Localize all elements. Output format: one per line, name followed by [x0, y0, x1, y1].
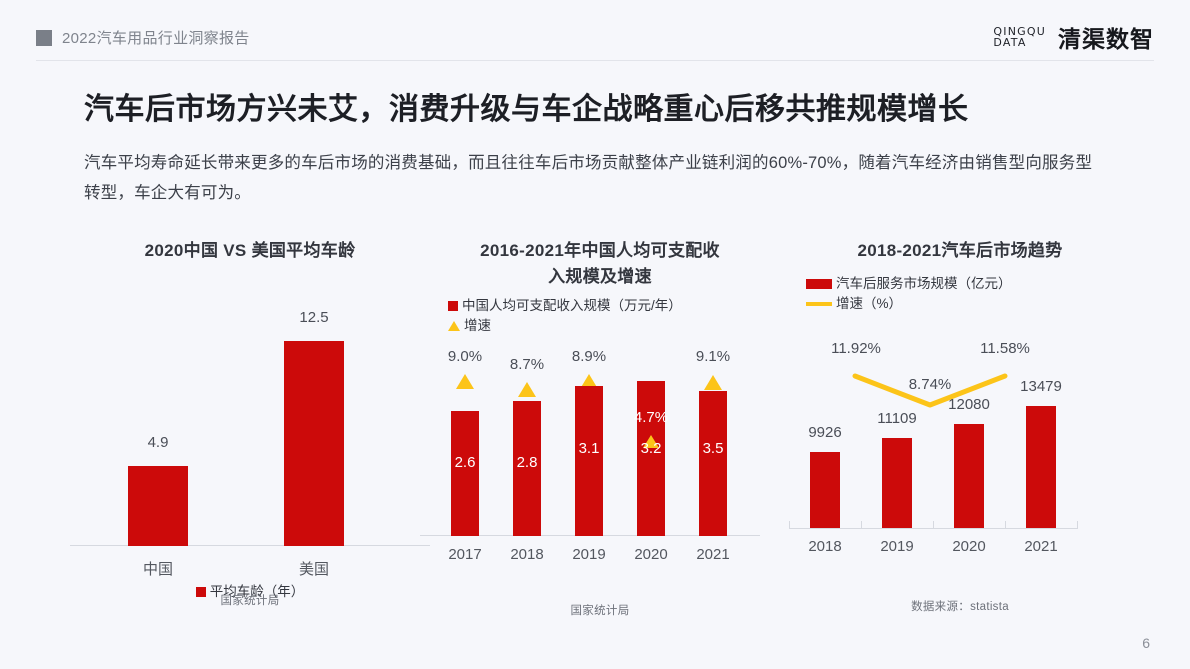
legend-swatch-square-icon [448, 301, 458, 311]
brand-logo-line2: DATA [993, 37, 1046, 48]
growth-marker-triangle-icon[interactable] [704, 375, 722, 390]
bar-value-label: 4.9 [108, 434, 208, 451]
x-tick-label: 2020 [934, 538, 1004, 555]
x-axis-tick [933, 521, 934, 529]
bar-2019[interactable] [575, 386, 603, 536]
legend-swatch-line-icon [806, 302, 832, 306]
bar-value-label: 12080 [934, 396, 1004, 413]
chart-title: 2018-2021汽车后市场趋势 [780, 238, 1140, 264]
brand-logo-latin: QINGQU DATA [993, 26, 1046, 48]
slide-header: 2022汽车用品行业洞察报告 QINGQU DATA 清渠数智 [0, 0, 1190, 62]
chart-legend: 汽车后服务市场规模（亿元） 增速（%） [780, 274, 1140, 314]
x-axis-tick [1077, 521, 1078, 529]
header-left: 2022汽车用品行业洞察报告 [36, 27, 250, 48]
x-tick-label: 2019 [554, 546, 624, 563]
x-axis-line [70, 545, 430, 546]
growth-value-label: 9.0% [430, 348, 500, 365]
x-axis-tick [1005, 521, 1006, 529]
bar-usa[interactable] [284, 341, 344, 546]
growth-value-label: 8.74% [892, 376, 968, 393]
legend-label: 增速 [464, 316, 491, 336]
growth-value-label: 4.7% [616, 409, 686, 426]
charts-row: 2020中国 VS 美国平均车龄 4.9 12.5 中国 美国 平均车龄（年） … [0, 238, 1190, 628]
growth-value-label: 11.58% [967, 340, 1043, 357]
x-tick-label: 2018 [790, 538, 860, 555]
chart-title-line2: 入规模及增速 [420, 264, 780, 290]
bar-2019[interactable] [882, 438, 912, 528]
chart-average-vehicle-age: 2020中国 VS 美国平均车龄 4.9 12.5 中国 美国 平均车龄（年） … [70, 238, 430, 628]
growth-value-label: 8.7% [492, 356, 562, 373]
report-title: 2022汽车用品行业洞察报告 [62, 27, 250, 48]
bar-value-label: 3.2 [616, 440, 686, 457]
header-divider [36, 60, 1154, 61]
growth-marker-triangle-icon[interactable] [456, 374, 474, 389]
legend-label: 汽车后服务市场规模（亿元） [836, 274, 1012, 294]
bullet-square-icon [36, 30, 52, 46]
chart-plot-area: 9.0% 2.6 2017 8.7% 2.8 2018 8.9% 3.1 201… [420, 350, 780, 536]
chart-aftermarket-trend: 2018-2021汽车后市场趋势 汽车后服务市场规模（亿元） 增速（%） 11.… [780, 238, 1140, 628]
x-axis-tick [789, 521, 790, 529]
bar-value-label: 2.6 [430, 454, 500, 471]
x-tick-label: 2019 [862, 538, 932, 555]
growth-value-label: 8.9% [554, 348, 624, 365]
bar-2020[interactable] [954, 424, 984, 528]
growth-value-label: 9.1% [678, 348, 748, 365]
legend-label: 中国人均可支配收入规模（万元/年） [462, 296, 682, 316]
x-tick-label: 2021 [1006, 538, 1076, 555]
growth-marker-triangle-icon[interactable] [518, 382, 536, 397]
bar-value-label: 11109 [862, 410, 932, 427]
chart-plot-area: 4.9 12.5 中国 美国 [70, 286, 430, 546]
bar-2021[interactable] [699, 391, 727, 536]
chart-source: 数据来源：statista [780, 598, 1140, 614]
bar-2020[interactable] [637, 381, 665, 536]
chart-source: 国家统计局 [420, 602, 780, 618]
bar-value-label: 2.8 [492, 454, 562, 471]
bar-value-label: 13479 [1006, 378, 1076, 395]
bar-china[interactable] [128, 466, 188, 546]
bar-2018[interactable] [810, 452, 840, 528]
bar-value-label: 3.1 [554, 440, 624, 457]
bar-value-label: 12.5 [264, 309, 364, 326]
page-title: 汽车后市场方兴未艾，消费升级与车企战略重心后移共推规模增长 [84, 84, 1114, 128]
legend-swatch-triangle-icon [448, 321, 460, 331]
x-tick-label: 2020 [616, 546, 686, 563]
brand-logo-chinese: 清渠数智 [1058, 20, 1154, 54]
legend-item[interactable]: 中国人均可支配收入规模（万元/年） [448, 296, 780, 316]
legend-item[interactable]: 增速 [448, 316, 780, 336]
bar-2021[interactable] [1026, 406, 1056, 528]
page-number: 6 [1142, 635, 1150, 651]
chart-legend: 中国人均可支配收入规模（万元/年） 增速 [420, 296, 780, 336]
x-axis-tick [861, 521, 862, 529]
chart-disposable-income: 2016-2021年中国人均可支配收 入规模及增速 中国人均可支配收入规模（万元… [420, 238, 780, 628]
x-tick-label: 美国 [264, 558, 364, 579]
x-tick-label: 2017 [430, 546, 500, 563]
legend-swatch-square-icon [806, 279, 832, 289]
legend-item[interactable]: 增速（%） [806, 294, 1140, 314]
brand-logo: QINGQU DATA 清渠数智 [993, 20, 1154, 54]
legend-item[interactable]: 汽车后服务市场规模（亿元） [806, 274, 1140, 294]
chart-title: 2020中国 VS 美国平均车龄 [70, 238, 430, 264]
bar-2017[interactable] [451, 411, 479, 536]
chart-title-line1: 2016-2021年中国人均可支配收 [420, 238, 780, 264]
x-tick-label: 中国 [108, 558, 208, 579]
growth-value-label: 11.92% [818, 340, 894, 357]
x-tick-label: 2018 [492, 546, 562, 563]
chart-plot-area: 11.92% 8.74% 11.58% 9926 2018 11109 2019… [780, 328, 1140, 556]
x-tick-label: 2021 [678, 546, 748, 563]
legend-label: 增速（%） [836, 294, 902, 314]
chart-source: 国家统计局 [70, 592, 430, 608]
bar-value-label: 3.5 [678, 440, 748, 457]
bar-value-label: 9926 [790, 424, 860, 441]
page-subtitle: 汽车平均寿命延长带来更多的车后市场的消费基础，而且往往车后市场贡献整体产业链利润… [84, 148, 1104, 208]
